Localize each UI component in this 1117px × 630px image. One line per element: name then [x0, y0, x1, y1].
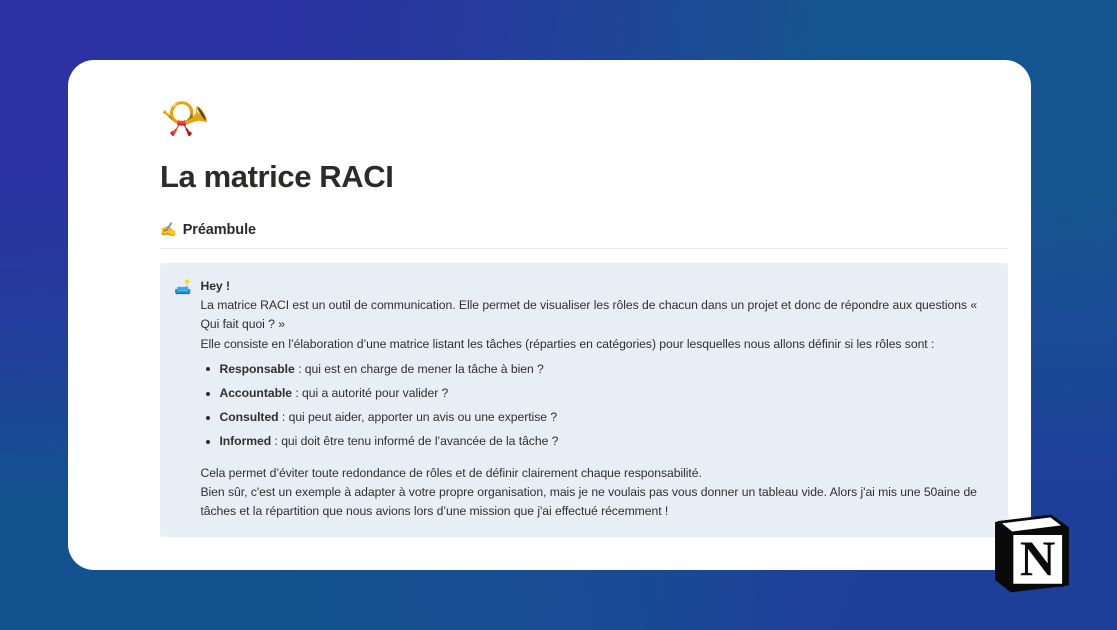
section-heading-preambule: ✍️ Préambule — [160, 222, 1008, 248]
document-card: 📯 La matrice RACI ✍️ Préambule 🛋️ Hey ! … — [68, 60, 1031, 570]
list-item: Responsable : qui est en charge de mener… — [200, 360, 992, 379]
callout-paragraph-1: La matrice RACI est un outil de communic… — [200, 296, 992, 334]
role-desc: : qui peut aider, apporter un avis ou un… — [279, 410, 557, 424]
callout-paragraph-2: Elle consiste en l’élaboration d’une mat… — [200, 335, 992, 354]
notion-logo: N — [988, 504, 1076, 598]
callout-closing-2: Bien sûr, c'est un exemple à adapter à v… — [200, 483, 992, 521]
callout-closing-1: Cela permet d’éviter toute redondance de… — [200, 464, 992, 483]
callout-lead: Hey ! — [200, 277, 992, 296]
list-item: Accountable : qui a autorité pour valide… — [200, 384, 992, 403]
role-desc: : qui doit être tenu informé de l’avancé… — [271, 434, 558, 448]
role-term: Responsable — [219, 362, 294, 376]
role-term: Accountable — [219, 386, 292, 400]
page-title: La matrice RACI — [160, 158, 1008, 196]
writing-hand-icon: ✍️ — [160, 223, 177, 237]
callout-body: Hey ! La matrice RACI est un outil de co… — [200, 277, 992, 521]
list-item: Consulted : qui peut aider, apporter un … — [200, 408, 992, 427]
notion-page: 📯 La matrice RACI ✍️ Préambule 🛋️ Hey ! … — [160, 96, 1008, 570]
notion-logo-letter: N — [1020, 531, 1056, 586]
heading-divider — [160, 248, 1008, 249]
callout-block: 🛋️ Hey ! La matrice RACI est un outil de… — [160, 263, 1008, 537]
couch-icon: 🛋️ — [174, 277, 191, 297]
raci-role-list: Responsable : qui est en charge de mener… — [200, 360, 992, 452]
role-term: Consulted — [219, 410, 278, 424]
role-desc: : qui a autorité pour valider ? — [292, 386, 448, 400]
role-desc: : qui est en charge de mener la tâche à … — [295, 362, 544, 376]
postal-horn-emoji[interactable]: 📯 — [160, 96, 1008, 144]
list-item: Informed : qui doit être tenu informé de… — [200, 432, 992, 451]
role-term: Informed — [219, 434, 271, 448]
section-heading-label: Préambule — [183, 222, 256, 238]
